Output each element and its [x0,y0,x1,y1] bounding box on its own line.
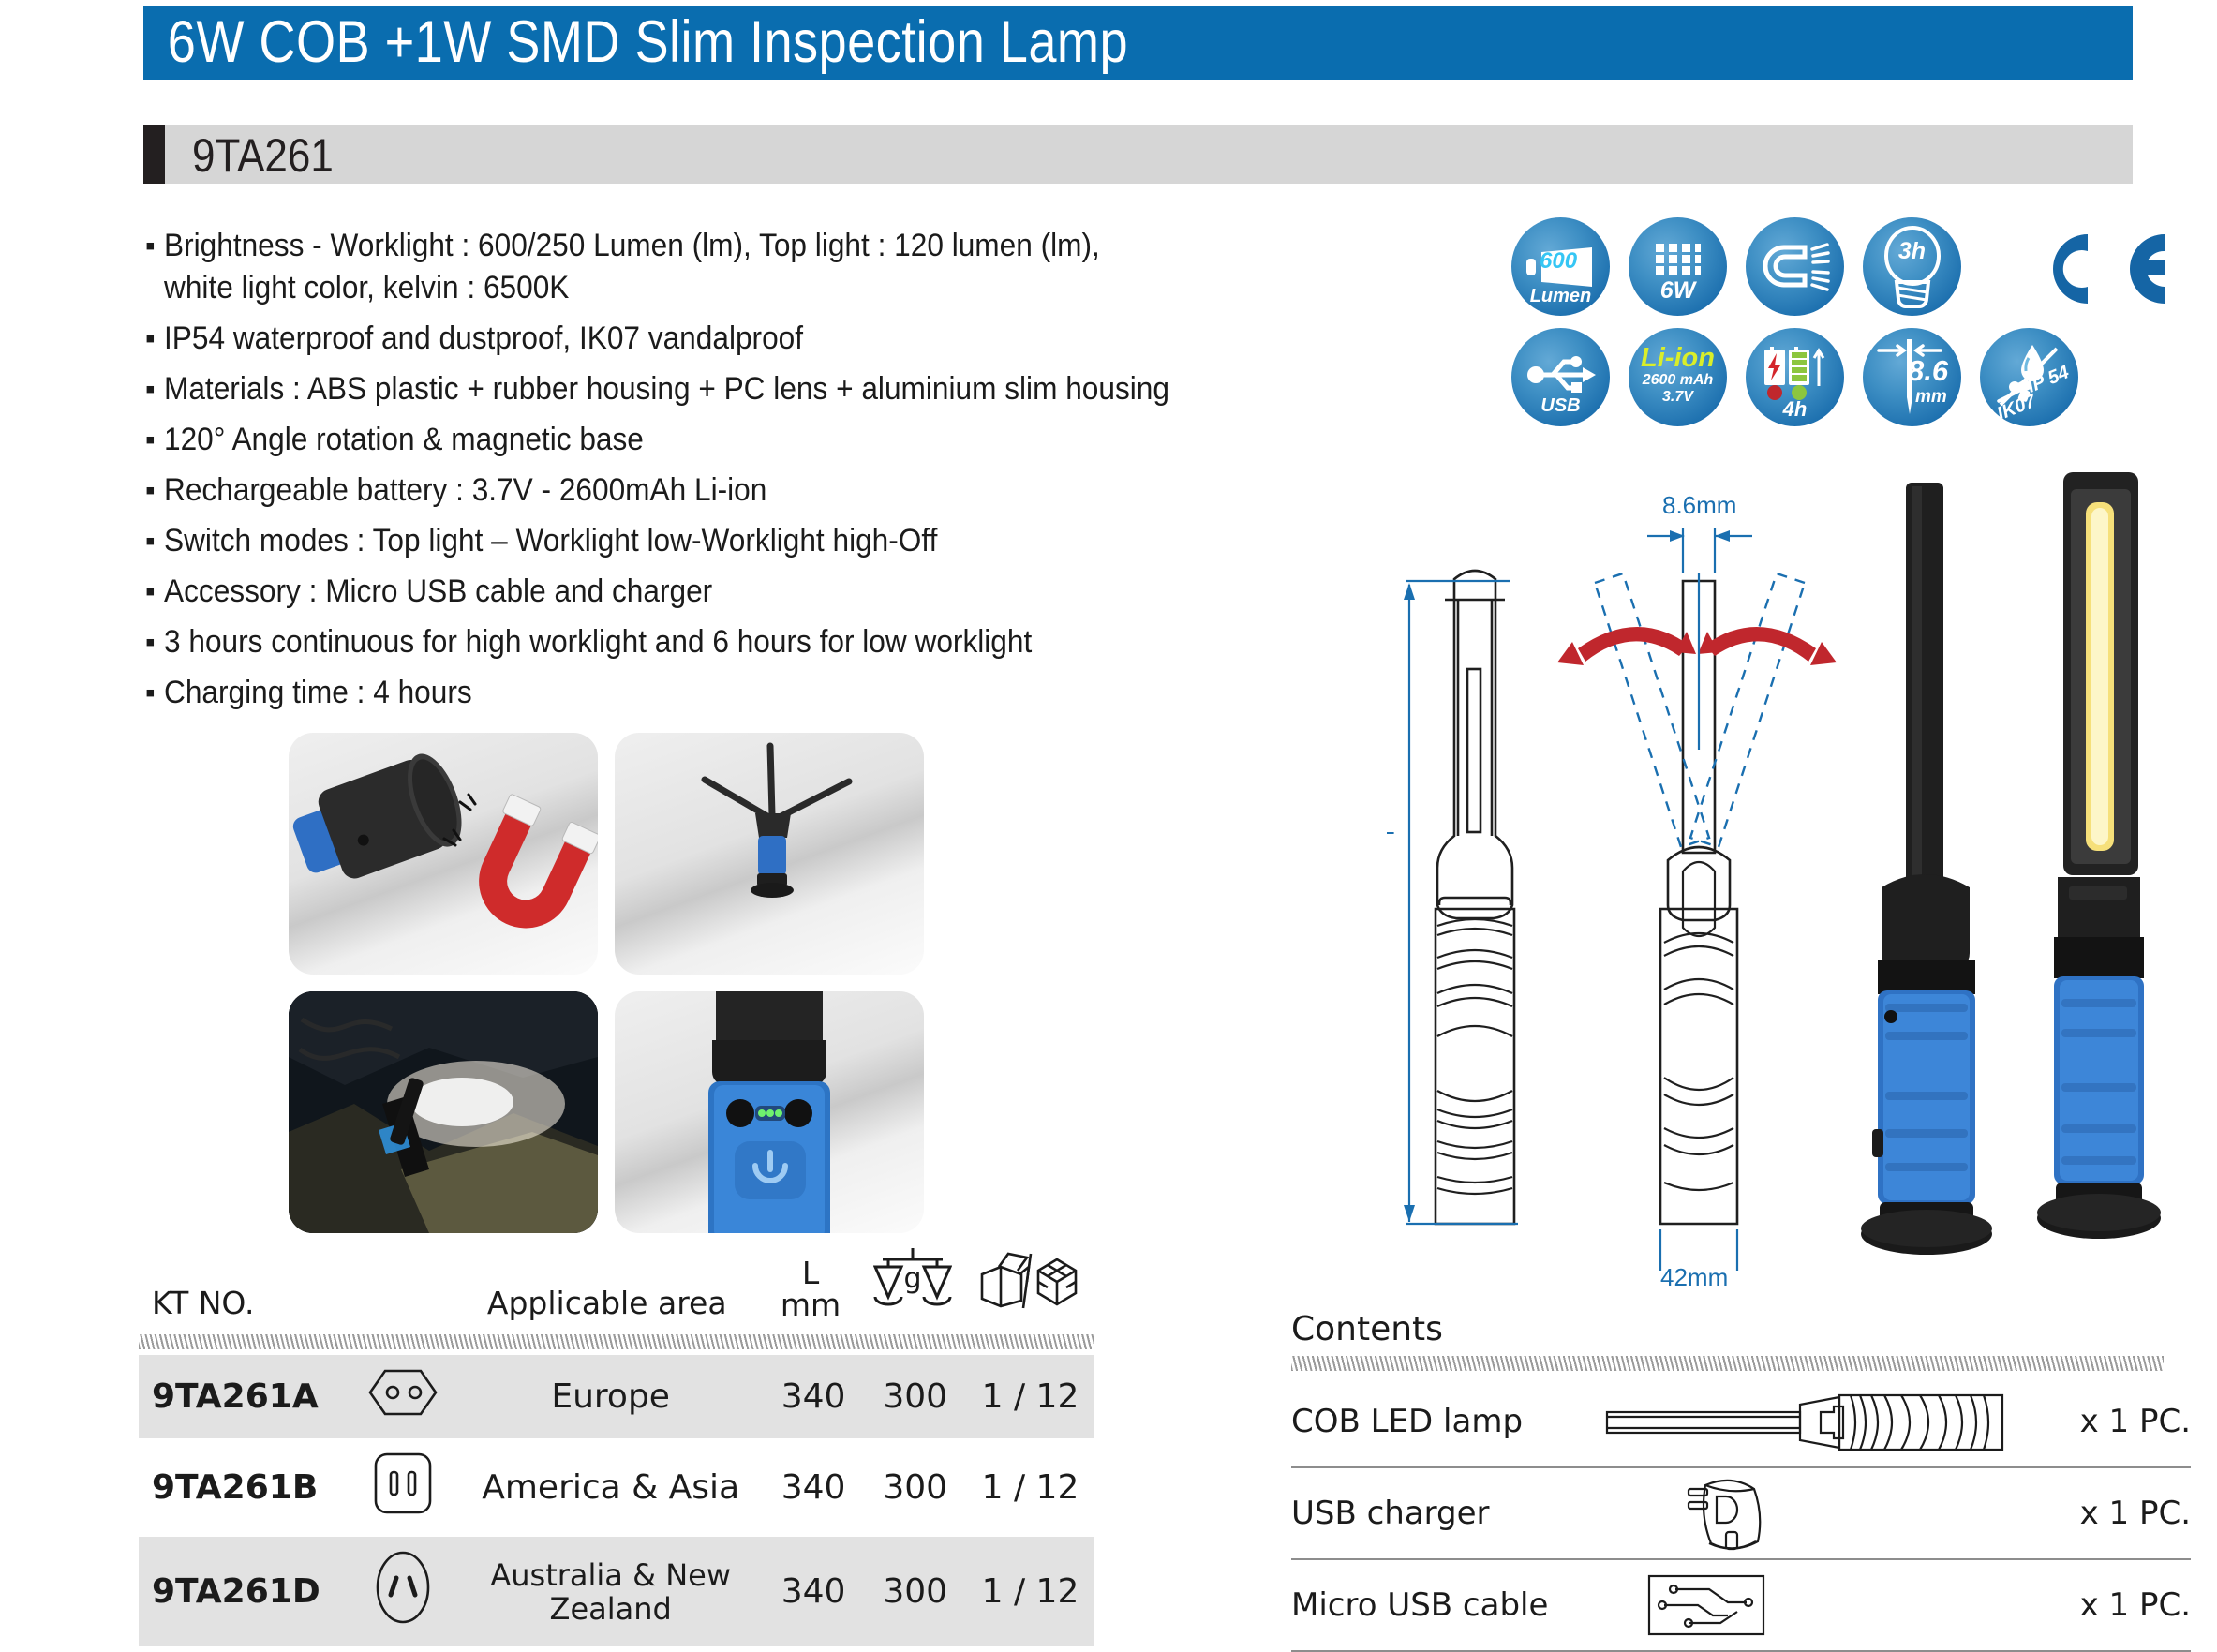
bullet-icon: ▪ [145,368,164,410]
magnet-base-illustration [289,733,598,975]
thickness-badge: 8.6 mm [1863,328,1961,426]
contents-item-qty: x 1 PC. [2031,1495,2191,1532]
th-weight: g [861,1246,963,1334]
sku-code: 9TA261 [192,127,334,185]
ip-ik-badge: IP 54 IK07 [1980,328,2078,426]
engine-bay-illustration [289,991,598,1233]
lumen-badge: 600 Lumen [1511,217,1610,316]
spec-text: Materials : ABS plastic + rubber housing… [164,368,1341,410]
bullet-icon: ▪ [145,520,164,562]
spec-text: Switch modes : Top light – Worklight low… [164,520,1341,562]
control-panel-illustration [615,991,924,1233]
cell-area: Europe [459,1355,763,1438]
cell-weight: 300 [864,1537,966,1646]
feature-badge-row-1: 600 Lumen 6W [1511,217,2078,316]
magnet-badge [1746,217,1844,316]
thickness-value: 8.6 [1908,354,1948,388]
cell-sku: 9TA261D [139,1537,348,1646]
kt-number-table: KT NO. Applicable area L mm [139,1246,1094,1646]
ce-mark [2033,225,2169,319]
width-dimension-label: 8.6mm [1662,491,1736,519]
spec-text: 120° Angle rotation & magnetic base [164,419,1341,461]
scale-g-icon: g [873,1246,952,1314]
feature-badge-row-2: USB Li-ion 2600 mAh 3.7V 4h [1511,328,2078,426]
runtime-badge: 3h [1863,217,1961,316]
cell-sku: 9TA261A [139,1355,348,1438]
table-hatch-divider [139,1334,1094,1349]
contents-item-name: USB charger [1291,1495,1591,1532]
cob-lamp-icon [1605,1392,2017,1451]
spec-item: ▪Rechargeable battery : 3.7V - 2600mAh L… [145,469,1429,512]
contents-item-qty: x 1 PC. [2031,1586,2191,1624]
table-header-row: KT NO. Applicable area L mm [139,1246,1094,1334]
micro-usb-cable-icon [1647,1570,1765,1640]
spec-item: ▪Charging time : 4 hours [145,672,1429,714]
liion-voltage: 3.7V [1662,389,1693,406]
cell-plug [348,1355,459,1438]
photo-row [289,991,926,1233]
battery-charge-icon [1761,341,1830,407]
weight-unit-label: g [904,1262,922,1295]
australia-plug-icon [374,1550,432,1625]
bullet-icon: ▪ [145,672,164,714]
contents-item-name: COB LED lamp [1291,1403,1591,1440]
box-carton-icon [976,1246,1081,1314]
spec-text: 3 hours continuous for high worklight an… [164,621,1341,663]
liion-capacity: 2600 mAh [1643,372,1714,389]
contents-hatch-divider [1291,1356,2164,1371]
bulb-runtime-icon [1882,224,1943,310]
spec-text: Accessory : Micro USB cable and charger [164,571,1341,613]
th-plug [345,1246,454,1334]
spec-item: ▪120° Angle rotation & magnetic base [145,419,1429,461]
table-row: 9TA261A Europe 340 300 1 / 12 [139,1355,1094,1438]
cell-length: 340 [763,1438,865,1537]
america-plug-icon [373,1451,433,1515]
tripod-illustration [615,733,924,975]
base-dimension-label: 42mm [1660,1263,1728,1291]
product-photo-grid [289,733,926,1250]
runtime-value: 3h [1863,238,1961,265]
spec-item: ▪IP54 waterproof and dustproof, IK07 van… [145,318,1429,360]
cell-area: America & Asia [459,1438,763,1537]
battery-chemistry-badge: Li-ion 2600 mAh 3.7V [1629,328,1727,426]
table-row: 9TA261D Australia & New Zealand 340 300 … [139,1537,1094,1646]
cell-length: 340 [763,1355,865,1438]
bullet-icon: ▪ [145,419,164,461]
spec-text: IP54 waterproof and dustproof, IK07 vand… [164,318,1341,360]
magnetic-base-photo [289,733,598,975]
table-row: 9TA261B America & Asia 340 300 1 / 12 [139,1438,1094,1537]
contents-title: Contents [1291,1310,2191,1348]
contents-row: Micro USB cable x 1 PC. [1291,1560,2191,1652]
cell-weight: 300 [864,1355,966,1438]
cell-plug [348,1438,459,1537]
bullet-icon: ▪ [145,571,164,613]
cell-plug [348,1537,459,1646]
ce-mark-icon [2033,225,2169,314]
sku-bar-accent-tab [143,125,165,184]
lumen-label: Lumen [1530,287,1592,305]
feature-badge-group: 600 Lumen 6W [1511,217,2078,439]
spec-item: ▪Accessory : Micro USB cable and charger [145,571,1429,613]
spec-item: ▪3 hours continuous for high worklight a… [145,621,1429,663]
spec-item: ▪Switch modes : Top light – Worklight lo… [145,520,1429,562]
cell-length: 340 [763,1537,865,1646]
length-dimension-label: L [1387,811,1394,840]
contents-item-icon-wrap [1591,1570,2031,1640]
product-render-left [1837,473,2015,1279]
contents-item-icon-wrap [1591,1392,2031,1451]
usb-charger-icon [1677,1470,1780,1556]
th-applicable-area: Applicable area [454,1246,760,1334]
spec-text: Rechargeable battery : 3.7V - 2600mAh Li… [164,469,1341,512]
usb-icon [1525,354,1598,395]
cell-packing: 1 / 12 [966,1537,1094,1646]
liion-value: Li-ion [1641,344,1715,372]
photo-row [289,733,926,975]
spec-item: ▪Materials : ABS plastic + rubber housin… [145,368,1429,410]
tripod-stand-photo [615,733,924,975]
cell-weight: 300 [864,1438,966,1537]
control-panel-photo [615,991,924,1233]
cell-sku: 9TA261B [139,1438,348,1537]
title-bar: 6W COB +1W SMD Slim Inspection Lamp [143,6,2133,80]
contents-row: USB charger x 1 PC. [1291,1468,2191,1560]
sku-bar [143,125,2133,184]
specification-list: ▪Brightness - Worklight : 600/250 Lumen … [145,225,1429,722]
th-kt-no: KT NO. [139,1246,345,1334]
spec-text: Brightness - Worklight : 600/250 Lumen (… [164,225,1341,309]
usb-badge: USB [1511,328,1610,426]
th-length: L mm [760,1246,862,1334]
contents-item-icon-wrap [1591,1470,2031,1556]
product-render-torch-mode [1837,473,2015,1284]
cell-packing: 1 / 12 [966,1355,1094,1438]
magnet-icon [1756,239,1835,295]
power-label: 6W [1660,279,1696,303]
cell-packing: 1 / 12 [966,1438,1094,1537]
spec-item: ▪Brightness - Worklight : 600/250 Lumen … [145,225,1429,309]
product-render-right [2011,463,2189,1287]
charge-time-label: 4h [1783,399,1808,420]
cell-area: Australia & New Zealand [459,1537,763,1646]
product-render-worklight-mode [2011,463,2189,1292]
power-badge: 6W [1629,217,1727,316]
thickness-unit: mm [1915,387,1947,408]
bullet-icon: ▪ [145,469,164,512]
usb-label: USB [1540,396,1580,415]
contents-item-qty: x 1 PC. [2031,1403,2191,1440]
europe-plug-icon [366,1368,439,1417]
bullet-icon: ▪ [145,621,164,663]
bullet-icon: ▪ [145,225,164,267]
page-title: 6W COB +1W SMD Slim Inspection Lamp [143,13,1128,72]
lumen-value: 600 [1540,248,1577,275]
bullet-icon: ▪ [145,318,164,360]
contents-section: Contents COB LED lamp x 1 PC. [1291,1310,2191,1652]
charge-time-badge: 4h [1746,328,1844,426]
engine-bay-usage-photo [289,991,598,1233]
contents-row: COB LED lamp x 1 PC. [1291,1377,2191,1468]
spec-text: Charging time : 4 hours [164,672,1341,714]
th-length-top: L [760,1258,862,1289]
contents-item-name: Micro USB cable [1291,1586,1591,1624]
th-packing [964,1246,1094,1334]
th-length-bottom: mm [760,1289,862,1321]
